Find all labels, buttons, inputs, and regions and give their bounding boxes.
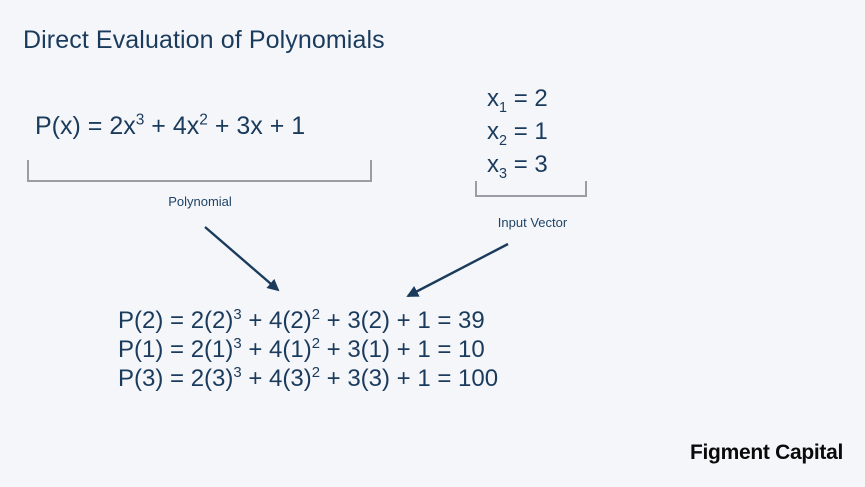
figment-capital-logo: Figment Capital — [690, 441, 843, 465]
input-vector-var-2: x — [487, 118, 499, 145]
evaluation-1-tail: + 3(2) + 1 = 39 — [320, 307, 485, 334]
input-vector-index-1: 1 — [499, 100, 507, 116]
evaluation-2-exponent-2: 2 — [312, 336, 320, 352]
input-vector-label: Input Vector — [455, 215, 610, 230]
input-vector-to-evaluations-arrow — [408, 244, 508, 296]
input-vector-var-3: x — [487, 151, 499, 178]
evaluation-1-exponent-2: 2 — [312, 307, 320, 323]
polynomial-expression-tail: + 3x + 1 — [208, 112, 305, 140]
input-vector-equals-1: = — [514, 85, 528, 112]
input-vector-value-3: 3 — [534, 151, 547, 178]
evaluation-3-tail: + 3(3) + 1 = 100 — [320, 365, 498, 392]
slide-canvas: Direct Evaluation of Polynomials P(x) = … — [0, 0, 865, 487]
evaluation-line-2: P(1) = 2(1)3 + 4(1)2 + 3(1) + 1 = 10 — [118, 335, 498, 364]
polynomial-expression: P(x) = 2x3 + 4x2 + 3x + 1 — [35, 112, 305, 141]
input-vector-index-3: 3 — [499, 166, 507, 182]
input-vector-equals-2: = — [514, 118, 528, 145]
evaluation-2-lhs: P(1) = 2(1) — [118, 336, 233, 363]
input-vector-underbrace-bracket — [475, 181, 587, 197]
polynomial-to-evaluations-arrow — [205, 227, 278, 290]
evaluation-2-mid: + 4(1) — [242, 336, 312, 363]
polynomial-label: Polynomial — [0, 194, 400, 209]
input-vector-value-1: 2 — [534, 85, 547, 112]
polynomial-expression-lhs: P(x) = 2x — [35, 112, 136, 140]
input-vector-value-2: 1 — [534, 118, 547, 145]
page-title: Direct Evaluation of Polynomials — [23, 26, 385, 55]
polynomial-expression-mid: + 4x — [144, 112, 199, 140]
evaluation-3-mid: + 4(3) — [242, 365, 312, 392]
input-vector-values: x1 = 2 x2 = 1 x3 = 3 — [487, 82, 548, 181]
input-vector-index-2: 2 — [499, 133, 507, 149]
evaluation-2-exponent-3: 3 — [233, 336, 241, 352]
input-vector-equals-3: = — [514, 151, 528, 178]
input-vector-entry-3: x3 = 3 — [487, 148, 548, 181]
polynomial-exponent-2: 2 — [199, 112, 208, 129]
evaluation-line-1: P(2) = 2(2)3 + 4(2)2 + 3(2) + 1 = 39 — [118, 306, 498, 335]
evaluation-1-lhs: P(2) = 2(2) — [118, 307, 233, 334]
evaluation-3-exponent-2: 2 — [312, 365, 320, 381]
evaluation-lines: P(2) = 2(2)3 + 4(2)2 + 3(2) + 1 = 39 P(1… — [118, 306, 498, 393]
polynomial-underbrace-bracket — [27, 160, 372, 182]
evaluation-1-exponent-3: 3 — [233, 307, 241, 323]
input-vector-entry-1: x1 = 2 — [487, 82, 548, 115]
arrows-layer — [0, 0, 865, 487]
input-vector-var-1: x — [487, 85, 499, 112]
evaluation-3-lhs: P(3) = 2(3) — [118, 365, 233, 392]
evaluation-line-3: P(3) = 2(3)3 + 4(3)2 + 3(3) + 1 = 100 — [118, 364, 498, 393]
evaluation-1-mid: + 4(2) — [242, 307, 312, 334]
evaluation-3-exponent-3: 3 — [233, 365, 241, 381]
input-vector-entry-2: x2 = 1 — [487, 115, 548, 148]
evaluation-2-tail: + 3(1) + 1 = 10 — [320, 336, 485, 363]
